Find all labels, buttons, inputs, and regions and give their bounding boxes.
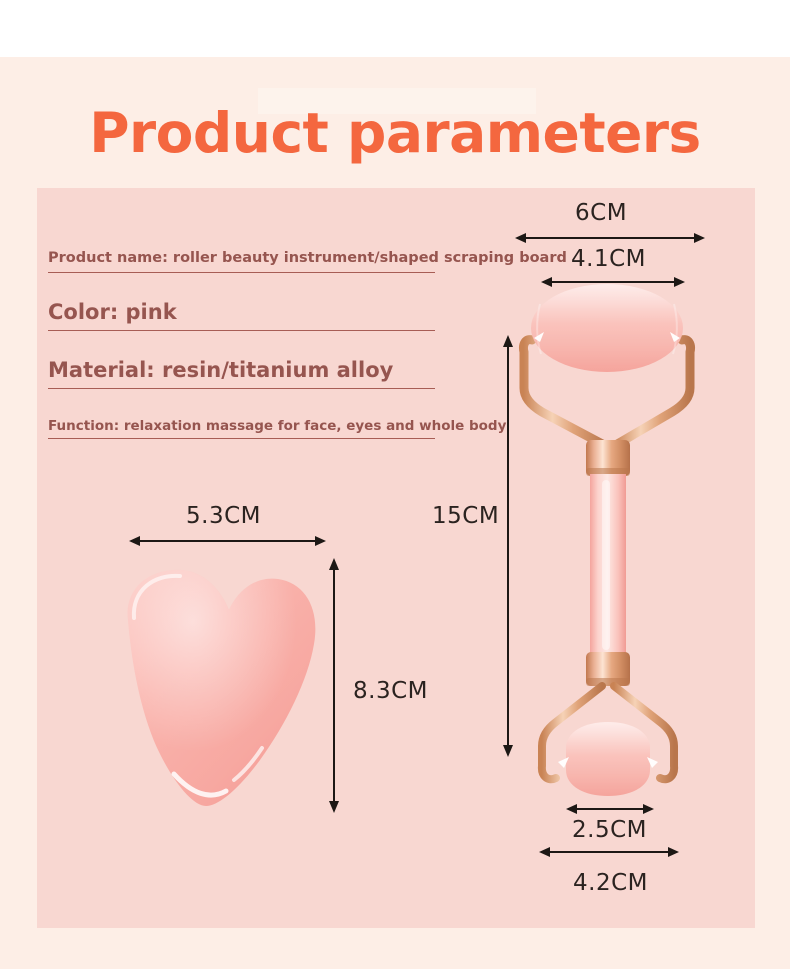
dimension-arrow-5-3cm bbox=[120, 531, 335, 551]
spec-rule-color bbox=[48, 330, 435, 331]
dimension-label-8-3cm: 8.3CM bbox=[353, 678, 428, 704]
dimension-arrow-8-3cm bbox=[325, 553, 345, 818]
spec-product-name: Product name: roller beauty instrument/s… bbox=[48, 250, 567, 266]
guasha-stone-image bbox=[110, 548, 340, 818]
dimension-arrow-4-2cm bbox=[530, 842, 688, 862]
roller-head-top-gloss bbox=[531, 284, 683, 372]
dimension-label-6cm: 6CM bbox=[575, 200, 627, 226]
spec-material: Material: resin/titanium alloy bbox=[48, 358, 393, 382]
dimension-arrow-2-5cm bbox=[558, 799, 662, 819]
page-title: Product parameters bbox=[0, 101, 790, 165]
dimension-arrow-4-1cm bbox=[532, 272, 694, 292]
face-roller-image bbox=[510, 270, 725, 810]
spec-rule-material bbox=[48, 388, 435, 389]
spec-rule-product-name bbox=[48, 272, 435, 273]
roller-head-bottom-gloss bbox=[566, 722, 650, 796]
dimension-label-4-2cm: 4.2CM bbox=[573, 870, 648, 896]
dimension-label-15cm: 15CM bbox=[432, 503, 499, 529]
dimension-label-2-5cm: 2.5CM bbox=[572, 817, 647, 843]
spec-function: Function: relaxation massage for face, e… bbox=[48, 418, 506, 434]
guasha-gloss bbox=[128, 570, 316, 806]
roller-handle-highlight bbox=[602, 480, 610, 650]
spec-rule-function bbox=[48, 438, 435, 439]
dimension-arrow-6cm bbox=[505, 228, 715, 248]
product-parameters-infographic: Product parameters Product name: roller … bbox=[0, 0, 790, 969]
dimension-arrow-15cm bbox=[499, 330, 519, 762]
roller-collar-lower-lip bbox=[586, 678, 630, 686]
dimension-label-4-1cm: 4.1CM bbox=[571, 246, 646, 272]
dimension-label-5-3cm: 5.3CM bbox=[186, 503, 261, 529]
spec-color: Color: pink bbox=[48, 300, 177, 324]
